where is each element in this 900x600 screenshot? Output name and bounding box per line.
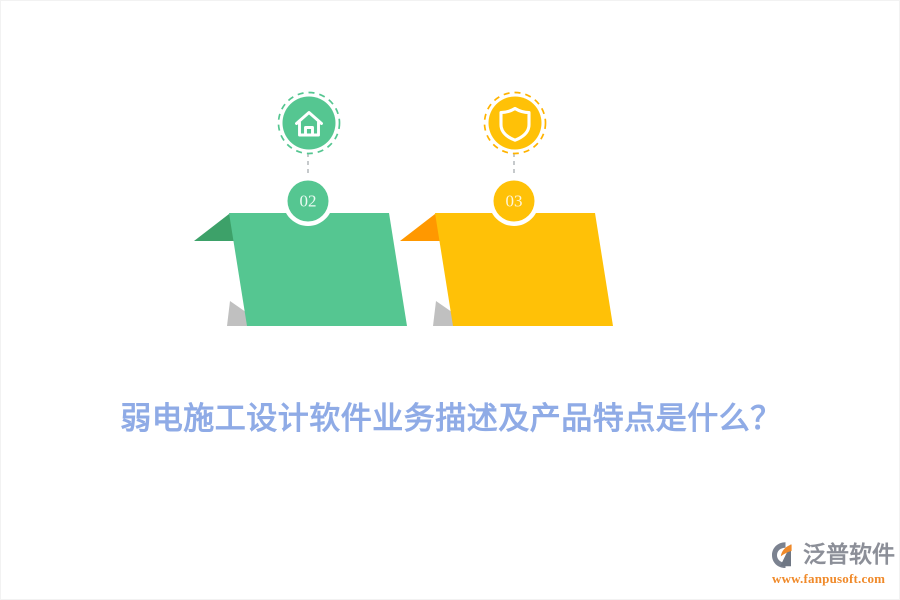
page-canvas: 02 [0,0,900,600]
logo-brand-name: 泛普软件 [803,541,895,569]
banner-shape-02 [229,213,407,326]
step-group-02[interactable]: 02 [194,93,407,327]
icon-disc-02[interactable] [283,97,336,150]
logo-url: www.fanpusoft.com [772,571,891,587]
number-badge-label-03: 03 [506,192,523,211]
fanpu-logo-mark [771,541,801,569]
brand-logo[interactable]: 泛普软件 www.fanpusoft.com [771,540,891,588]
logo-primary-row: 泛普软件 [771,540,891,570]
banner-shape-03 [435,213,613,326]
infographic-stage: 02 [1,1,900,371]
number-badge-label-02: 02 [300,192,317,211]
page-title: 弱电施工设计软件业务描述及产品特点是什么？ [1,393,900,438]
step-group-03[interactable]: 03 [400,93,613,327]
